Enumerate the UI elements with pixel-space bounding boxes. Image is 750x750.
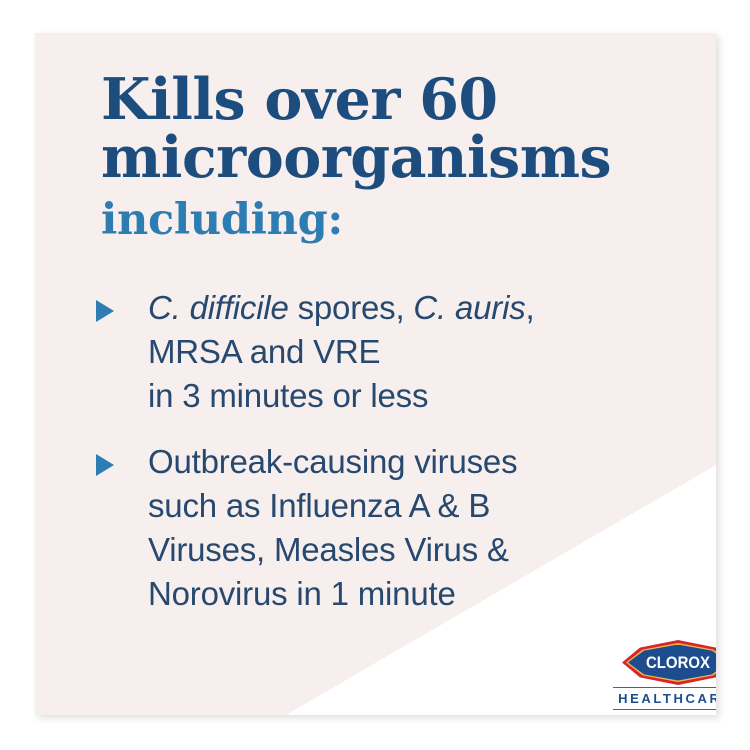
claims-list: C. difficile spores, C. auris, MRSA and … [96, 286, 696, 638]
list-item-line: Viruses, Measles Virus & [148, 528, 696, 572]
list-item-text: Outbreak-causing viruses such as Influen… [148, 440, 696, 616]
list-item-line: such as Influenza A & B [148, 484, 696, 528]
division-text: HEALTHCARE [618, 691, 716, 706]
line-text: , [526, 289, 535, 326]
headline-line-1: Kills over 60 [101, 71, 681, 129]
list-item-line: Outbreak-causing viruses [148, 440, 696, 484]
headline: Kills over 60 microorganisms [101, 71, 681, 187]
species-name: C. auris [413, 289, 525, 326]
image-canvas: Kills over 60 microorganisms including: … [0, 0, 750, 750]
list-item-line: C. difficile spores, C. auris, [148, 286, 696, 330]
list-item-text: C. difficile spores, C. auris, MRSA and … [148, 286, 696, 418]
species-name: C. difficile [148, 289, 289, 326]
brand-wordmark: CLOROX [629, 640, 716, 685]
headline-line-2: microorganisms [101, 129, 681, 187]
triangle-right-icon [96, 300, 114, 322]
list-item-line: MRSA and VRE [148, 330, 696, 374]
list-item: C. difficile spores, C. auris, MRSA and … [96, 286, 696, 418]
list-item: Outbreak-causing viruses such as Influen… [96, 440, 696, 616]
line-text: spores, [289, 289, 414, 326]
triangle-right-icon [96, 454, 114, 476]
subheadline: including: [101, 196, 343, 244]
division-wordmark: HEALTHCARE® [613, 687, 716, 710]
product-claim-card: Kills over 60 microorganisms including: … [35, 33, 716, 715]
clorox-healthcare-logo: CLOROX HEALTHCARE® FROM CLOROX PRO ® [613, 640, 716, 715]
list-item-line: Norovirus in 1 minute [148, 572, 696, 616]
clorox-diamond-icon: CLOROX [622, 640, 716, 685]
list-item-line: in 3 minutes or less [148, 374, 696, 418]
